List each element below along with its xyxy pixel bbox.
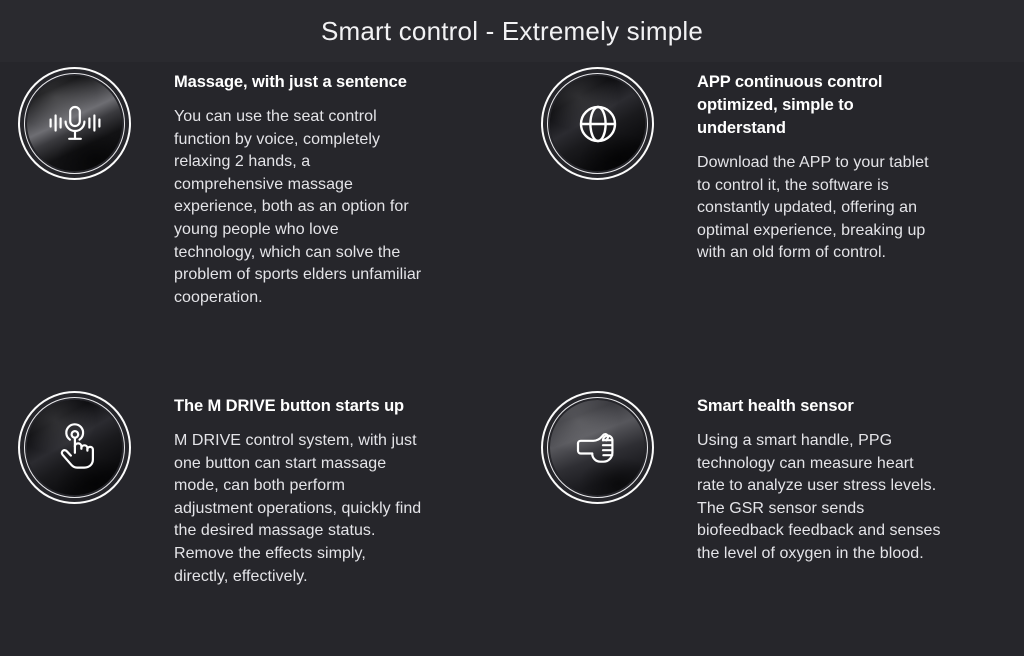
feature-icon-badge [541, 391, 654, 504]
feature-description: Download the APP to your tablet to contr… [697, 152, 943, 265]
feature-grid: Massage, with just a sentence You can us… [0, 62, 1024, 642]
feature-description: Using a smart handle, PPG technology can… [697, 430, 943, 566]
feature-icon-badge [18, 67, 131, 180]
feature-heading: Smart health sensor [697, 395, 935, 418]
page-header: Smart control - Extremely simple [0, 0, 1024, 62]
feature-text: Smart health sensor Using a smart handle… [697, 387, 1024, 566]
feature-icon-badge [18, 391, 131, 504]
globe-network-icon [541, 67, 654, 180]
microphone-voice-icon [18, 67, 131, 180]
footer-band [0, 642, 1024, 656]
page-title: Smart control - Extremely simple [321, 18, 703, 44]
hand-press-button-icon [18, 391, 131, 504]
promo-page: Smart control - Extremely simple [0, 0, 1024, 656]
feature-text: The M DRIVE button starts up M DRIVE con… [174, 387, 518, 588]
feature-description: M DRIVE control system, with just one bu… [174, 430, 422, 588]
feature-card: APP continuous control optimized, simple… [541, 63, 1024, 265]
feature-heading: Massage, with just a sentence [174, 71, 418, 94]
feature-icon-badge [541, 67, 654, 180]
feature-card: Massage, with just a sentence You can us… [18, 63, 518, 309]
feature-card: Smart health sensor Using a smart handle… [541, 387, 1024, 566]
feature-description: You can use the seat control function by… [174, 106, 422, 309]
feature-text: APP continuous control optimized, simple… [697, 63, 1024, 265]
hand-grip-sensor-icon [541, 391, 654, 504]
feature-text: Massage, with just a sentence You can us… [174, 63, 518, 309]
feature-card: The M DRIVE button starts up M DRIVE con… [18, 387, 518, 588]
feature-heading: The M DRIVE button starts up [174, 395, 418, 418]
feature-heading: APP continuous control optimized, simple… [697, 71, 935, 140]
